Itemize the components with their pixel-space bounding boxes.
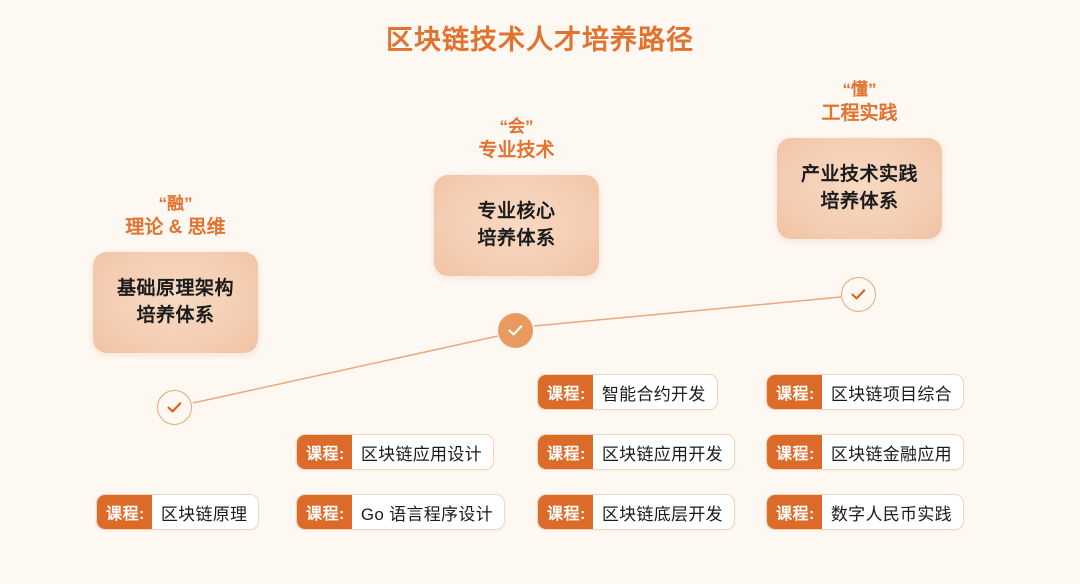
course-name: 区块链底层开发 [593, 495, 734, 529]
course-name: 区块链应用开发 [593, 435, 734, 469]
course-chip-c4-r1[interactable]: 课程: 区块链项目综合 [766, 374, 964, 410]
check-icon [506, 321, 525, 340]
pillar-card-3-line1: 产业技术实践 [801, 161, 918, 189]
stage-label-3: “懂” 工程实践 [777, 78, 942, 128]
course-tag-label: 课程: [97, 495, 152, 529]
course-chip-c3-r2[interactable]: 课程: 区块链应用开发 [537, 434, 735, 470]
pillar-card-3[interactable]: 产业技术实践 培养体系 [777, 138, 942, 239]
stage-label-2: “会” 专业技术 [434, 115, 599, 165]
course-tag-label: 课程: [538, 375, 593, 409]
stage-label-1: “融” 理论 & 思维 [93, 192, 258, 242]
pillar-card-2-line1: 专业核心 [477, 198, 555, 226]
stage-group-2: “会” 专业技术 专业核心 培养体系 [434, 115, 599, 276]
course-chip-c2-r2[interactable]: 课程: Go 语言程序设计 [296, 494, 505, 530]
course-name: 区块链原理 [152, 495, 259, 529]
check-icon [165, 398, 184, 417]
page-title: 区块链技术人才培养路径 [0, 18, 1080, 57]
check-icon [849, 285, 868, 304]
course-tag-label: 课程: [767, 435, 822, 469]
course-tag-label: 课程: [297, 435, 352, 469]
course-name: 数字人民币实践 [822, 495, 963, 529]
stage-quote-1: “融” [93, 192, 258, 215]
course-chip-c3-r1[interactable]: 课程: 智能合约开发 [537, 374, 718, 410]
course-tag-label: 课程: [297, 495, 352, 529]
connector-line-2-3 [534, 297, 841, 326]
stage-quote-2: “会” [434, 115, 599, 138]
pillar-card-1-line1: 基础原理架构 [117, 275, 234, 303]
pillar-card-3-line2: 培养体系 [820, 188, 898, 216]
stage-group-1: “融” 理论 & 思维 基础原理架构 培养体系 [93, 192, 258, 353]
course-tag-label: 课程: [767, 495, 822, 529]
checkpoint-node-3[interactable] [841, 277, 876, 312]
course-name: 区块链金融应用 [822, 435, 963, 469]
checkpoint-node-1[interactable] [157, 390, 192, 425]
stage-quote-3: “懂” [777, 78, 942, 101]
course-chip-c3-r3[interactable]: 课程: 区块链底层开发 [537, 494, 735, 530]
course-chip-c2-r1[interactable]: 课程: 区块链应用设计 [296, 434, 494, 470]
course-name: 智能合约开发 [593, 375, 717, 409]
stage-subtitle-2: 专业技术 [434, 138, 599, 164]
course-tag-label: 课程: [767, 375, 822, 409]
course-name: 区块链应用设计 [352, 435, 493, 469]
pillar-card-2-line2: 培养体系 [477, 225, 555, 253]
pillar-card-1[interactable]: 基础原理架构 培养体系 [93, 252, 258, 353]
course-chip-c4-r3[interactable]: 课程: 数字人民币实践 [766, 494, 964, 530]
course-chip-c4-r2[interactable]: 课程: 区块链金融应用 [766, 434, 964, 470]
infographic-canvas: 区块链技术人才培养路径 “融” 理论 & 思维 基础原理架构 培养体系 “会” … [0, 0, 1080, 584]
course-name: Go 语言程序设计 [352, 495, 504, 529]
pillar-card-1-line2: 培养体系 [136, 302, 214, 330]
course-chip-c1-r1[interactable]: 课程: 区块链原理 [96, 494, 259, 530]
pillar-card-2[interactable]: 专业核心 培养体系 [434, 175, 599, 276]
course-name: 区块链项目综合 [822, 375, 963, 409]
checkpoint-node-2[interactable] [498, 313, 533, 348]
course-tag-label: 课程: [538, 435, 593, 469]
course-tag-label: 课程: [538, 495, 593, 529]
stage-subtitle-3: 工程实践 [777, 101, 942, 127]
stage-subtitle-1: 理论 & 思维 [93, 215, 258, 241]
stage-group-3: “懂” 工程实践 产业技术实践 培养体系 [777, 78, 942, 239]
